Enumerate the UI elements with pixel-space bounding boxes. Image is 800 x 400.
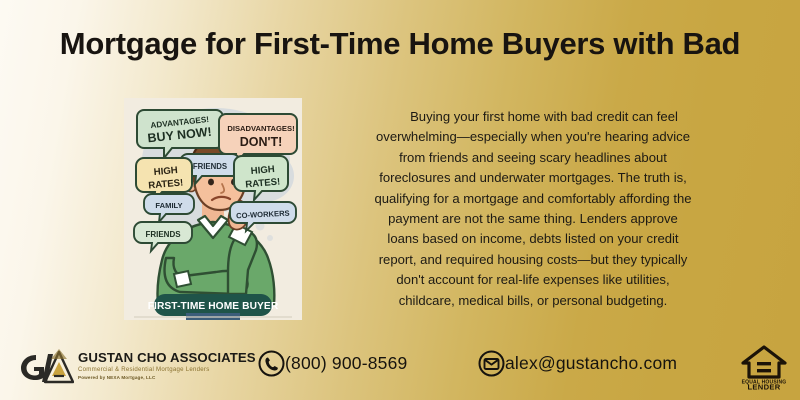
first-time-home-buyer-illustration: FIRST-TIME HOME BUYER ADVANTAGES! BUY NO… xyxy=(124,98,302,320)
svg-text:DON'T!: DON'T! xyxy=(240,135,283,149)
svg-text:HIGH: HIGH xyxy=(250,164,275,177)
equal-housing-lender-logo: EQUAL HOUSING LENDER xyxy=(741,344,787,390)
body-paragraph: Buying your first home with bad credit c… xyxy=(372,107,694,311)
svg-text:FRIENDS: FRIENDS xyxy=(145,230,181,239)
svg-text:FAMILY: FAMILY xyxy=(155,201,182,210)
phone-icon xyxy=(258,350,285,377)
svg-text:FRIENDS: FRIENDS xyxy=(193,162,227,171)
svg-text:HIGH: HIGH xyxy=(153,165,178,178)
gca-monogram-icon xyxy=(18,346,74,386)
illustration-caption: FIRST-TIME HOME BUYER xyxy=(148,301,279,312)
email-contact[interactable]: alex@gustancho.com xyxy=(478,350,677,377)
phone-contact[interactable]: (800) 900-8569 xyxy=(258,350,407,377)
page-title: Mortgage for First-Time Home Buyers with… xyxy=(0,26,800,62)
email-icon xyxy=(478,350,505,377)
phone-number: (800) 900-8569 xyxy=(285,353,407,374)
ehl-line2: LENDER xyxy=(747,383,780,390)
logo-powered-by: Powered by NEXA Mortgage, LLC xyxy=(78,374,256,382)
logo-tagline: Commercial & Residential Mortgage Lender… xyxy=(78,365,256,374)
svg-text:DISADVANTAGES!: DISADVANTAGES! xyxy=(227,124,294,133)
email-address: alex@gustancho.com xyxy=(505,353,677,374)
footer-bar: GUSTAN CHO ASSOCIATES Commercial & Resid… xyxy=(0,336,800,400)
logo-company-name: GUSTAN CHO ASSOCIATES xyxy=(78,350,256,365)
infographic-banner: Mortgage for First-Time Home Buyers with… xyxy=(0,0,800,400)
equal-housing-icon: EQUAL HOUSING LENDER xyxy=(741,344,787,390)
company-logo: GUSTAN CHO ASSOCIATES Commercial & Resid… xyxy=(18,346,256,386)
